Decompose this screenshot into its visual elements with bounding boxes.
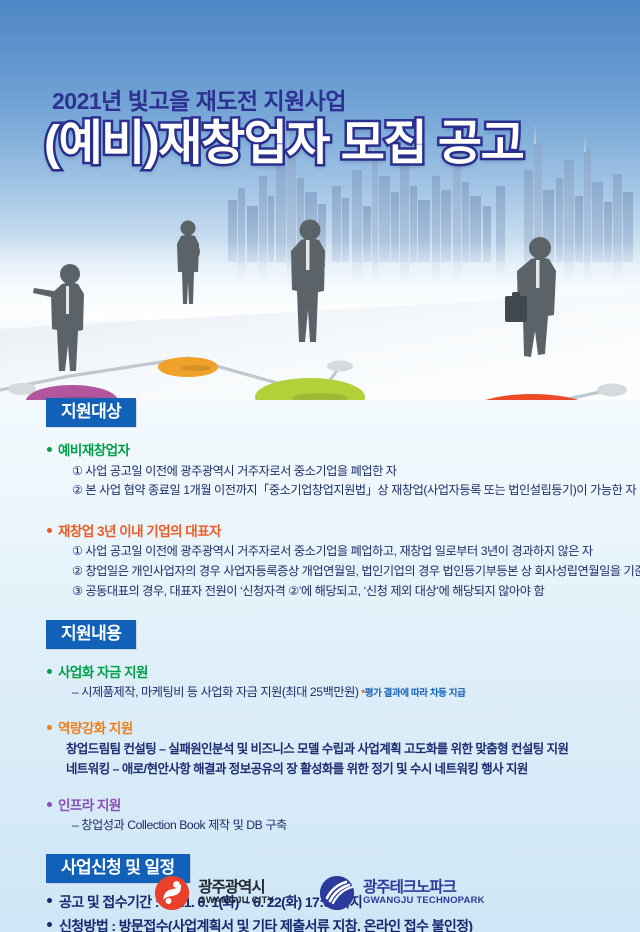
gwangju-city-mark-icon <box>155 876 189 910</box>
platform-green <box>255 378 365 400</box>
logo-gwangju-technopark: 광주테크노파크 GWANGJU TECHNOPARK <box>320 876 485 910</box>
funding-note: *평가 결과에 따라 차등 지급 <box>361 688 465 699</box>
list-item: ③ 공동대표의 경우, 대표자 전원이 ‘신청자격 ②’에 해당되고, ‘신청 … <box>46 582 616 602</box>
group-heading: 예비재창업자 <box>46 441 616 461</box>
poster-subtitle: 2021년 빛고을 재도전 지원사업 <box>52 82 346 116</box>
logo-name-en: GWANGJU CITY <box>198 896 274 906</box>
logo-name-kr: 광주광역시 <box>198 880 274 896</box>
group-restart-within-3y: 재창업 3년 이내 기업의 대표자 ① 사업 공고일 이전에 광주광역시 거주자… <box>46 522 616 602</box>
group-capacity: 역량강화 지원 창업드림팀 컨설팅 – 실패원인분석 및 비즈니스 모델 수립과… <box>46 719 616 779</box>
group-funding: 사업화 자금 지원 – 시제품제작, 마케팅비 등 사업화 자금 지원(최대 2… <box>46 663 616 703</box>
group-heading: 재창업 3년 이내 기업의 대표자 <box>46 522 616 542</box>
group-heading: 사업화 자금 지원 <box>46 663 616 683</box>
logo-name-kr: 광주테크노파크 <box>363 880 485 896</box>
group-heading: 역량강화 지원 <box>46 719 616 739</box>
poster-root: 2021년 빛고을 재도전 지원사업 (예비)재창업자 모집 공고 지원대상 예… <box>0 0 640 932</box>
gwangju-technopark-mark-icon <box>320 876 354 910</box>
list-item: 네트워킹 – 애로/현안사항 해결과 정보공유의 장 활성화를 위한 정기 및 … <box>46 759 616 779</box>
content-body: 지원대상 예비재창업자 ① 사업 공고일 이전에 광주광역시 거주자로서 중소기… <box>0 398 640 932</box>
poster-title: (예비)재창업자 모집 공고 <box>44 116 523 171</box>
list-item: 창업드림팀 컨설팅 – 실패원인분석 및 비즈니스 모델 수립과 사업계획 고도… <box>46 739 616 759</box>
section-badge-eligibility: 지원대상 <box>46 398 136 427</box>
logo-text: 광주광역시 GWANGJU CITY <box>198 880 274 906</box>
list-item: – 창업성과 Collection Book 제작 및 DB 구축 <box>46 816 616 836</box>
logo-gwangju-city: 광주광역시 GWANGJU CITY <box>155 876 274 910</box>
section-badge-support-details: 지원내용 <box>46 620 136 649</box>
group-infra: 인프라 지원 – 창업성과 Collection Book 제작 및 DB 구축 <box>46 796 616 836</box>
list-item: ② 창업일은 개인사업자의 경우 사업자등록증상 개업연월일, 법인기업의 경우… <box>46 562 616 582</box>
logo-name-en: GWANGJU TECHNOPARK <box>363 896 485 906</box>
hero-banner: 2021년 빛고을 재도전 지원사업 (예비)재창업자 모집 공고 <box>0 0 640 400</box>
section-support-details: 지원내용 사업화 자금 지원 – 시제품제작, 마케팅비 등 사업화 자금 지원… <box>0 620 640 836</box>
list-item: ① 사업 공고일 이전에 광주광역시 거주자로서 중소기업을 폐업한 자 <box>46 462 616 482</box>
list-item: ② 본 사업 협약 종료일 1개월 이전까지「중소기업창업지원법」상 재창업(사… <box>46 481 616 501</box>
section-eligibility: 지원대상 예비재창업자 ① 사업 공고일 이전에 광주광역시 거주자로서 중소기… <box>0 398 640 602</box>
platform-orange <box>158 357 218 377</box>
funding-note-text: 평가 결과에 따라 차등 지급 <box>365 688 466 699</box>
list-item-text: – 시제품제작, 마케팅비 등 사업화 자금 지원(최대 25백만원) <box>72 685 358 699</box>
group-heading: 인프라 지원 <box>46 796 616 816</box>
footer-logos: 광주광역시 GWANGJU CITY 광주테크노파크 GWANGJU TECHN… <box>0 854 640 932</box>
logo-text: 광주테크노파크 GWANGJU TECHNOPARK <box>363 880 485 906</box>
list-item: – 시제품제작, 마케팅비 등 사업화 자금 지원(최대 25백만원) *평가 … <box>46 683 616 703</box>
group-prospective: 예비재창업자 ① 사업 공고일 이전에 광주광역시 거주자로서 중소기업을 폐업… <box>46 441 616 501</box>
list-item: ① 사업 공고일 이전에 광주광역시 거주자로서 중소기업을 폐업하고, 재창업… <box>46 542 616 562</box>
